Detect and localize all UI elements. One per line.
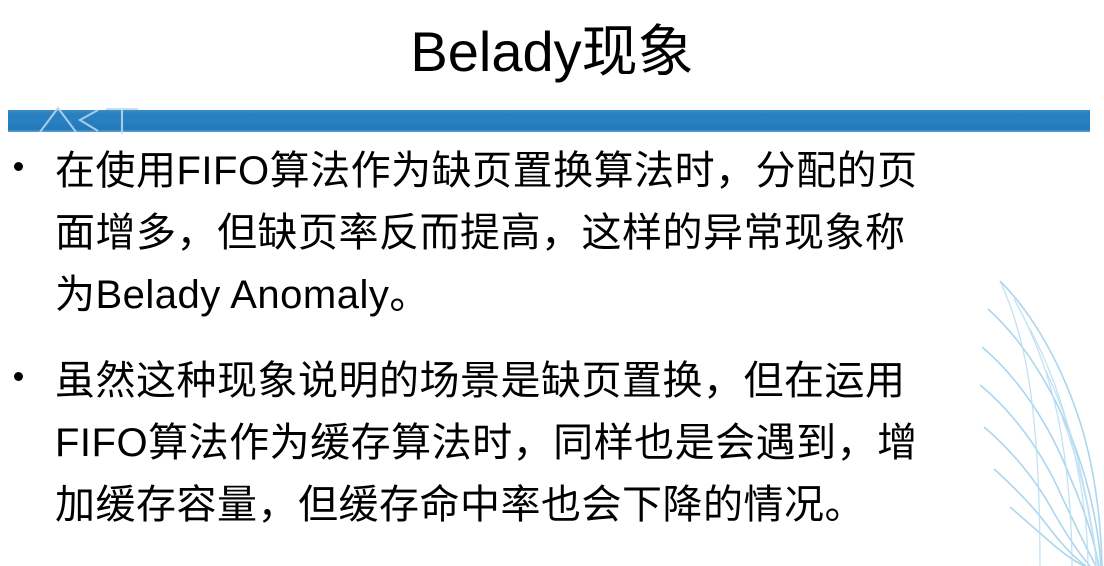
bullet-line: 为Belady Anomaly。 [55, 264, 1104, 326]
bullet-line: 面增多，但缺页率反而提高，这样的异常现象称 [55, 202, 1104, 264]
bullet-item: 虽然这种现象说明的场景是缺页置换，但在运用 FIFO算法作为缓存算法时，同样也是… [0, 350, 1104, 536]
divider-bar [8, 110, 1090, 132]
bullet-line: 在使用FIFO算法作为缺页置换算法时，分配的页 [55, 140, 1104, 202]
title-container: Belady现象 [0, 0, 1104, 104]
bullet-marker-icon [14, 372, 23, 381]
bullet-line: FIFO算法作为缓存算法时，同样也是会遇到，增 [55, 412, 1104, 474]
slide-canvas: Belady现象 在使用FIFO算法作为缺页置换算法时，分配的页 面增多，但缺页… [0, 0, 1104, 566]
bullet-line: 虽然这种现象说明的场景是缺页置换，但在运用 [55, 350, 1104, 412]
bullet-item: 在使用FIFO算法作为缺页置换算法时，分配的页 面增多，但缺页率反而提高，这样的… [0, 140, 1104, 326]
slide-body: 在使用FIFO算法作为缺页置换算法时，分配的页 面增多，但缺页率反而提高，这样的… [0, 140, 1104, 544]
divider [8, 110, 1090, 134]
bullet-marker-icon [14, 162, 23, 171]
page-title: Belady现象 [410, 23, 693, 82]
bullet-line: 加缓存容量，但缓存命中率也会下降的情况。 [55, 474, 1104, 536]
